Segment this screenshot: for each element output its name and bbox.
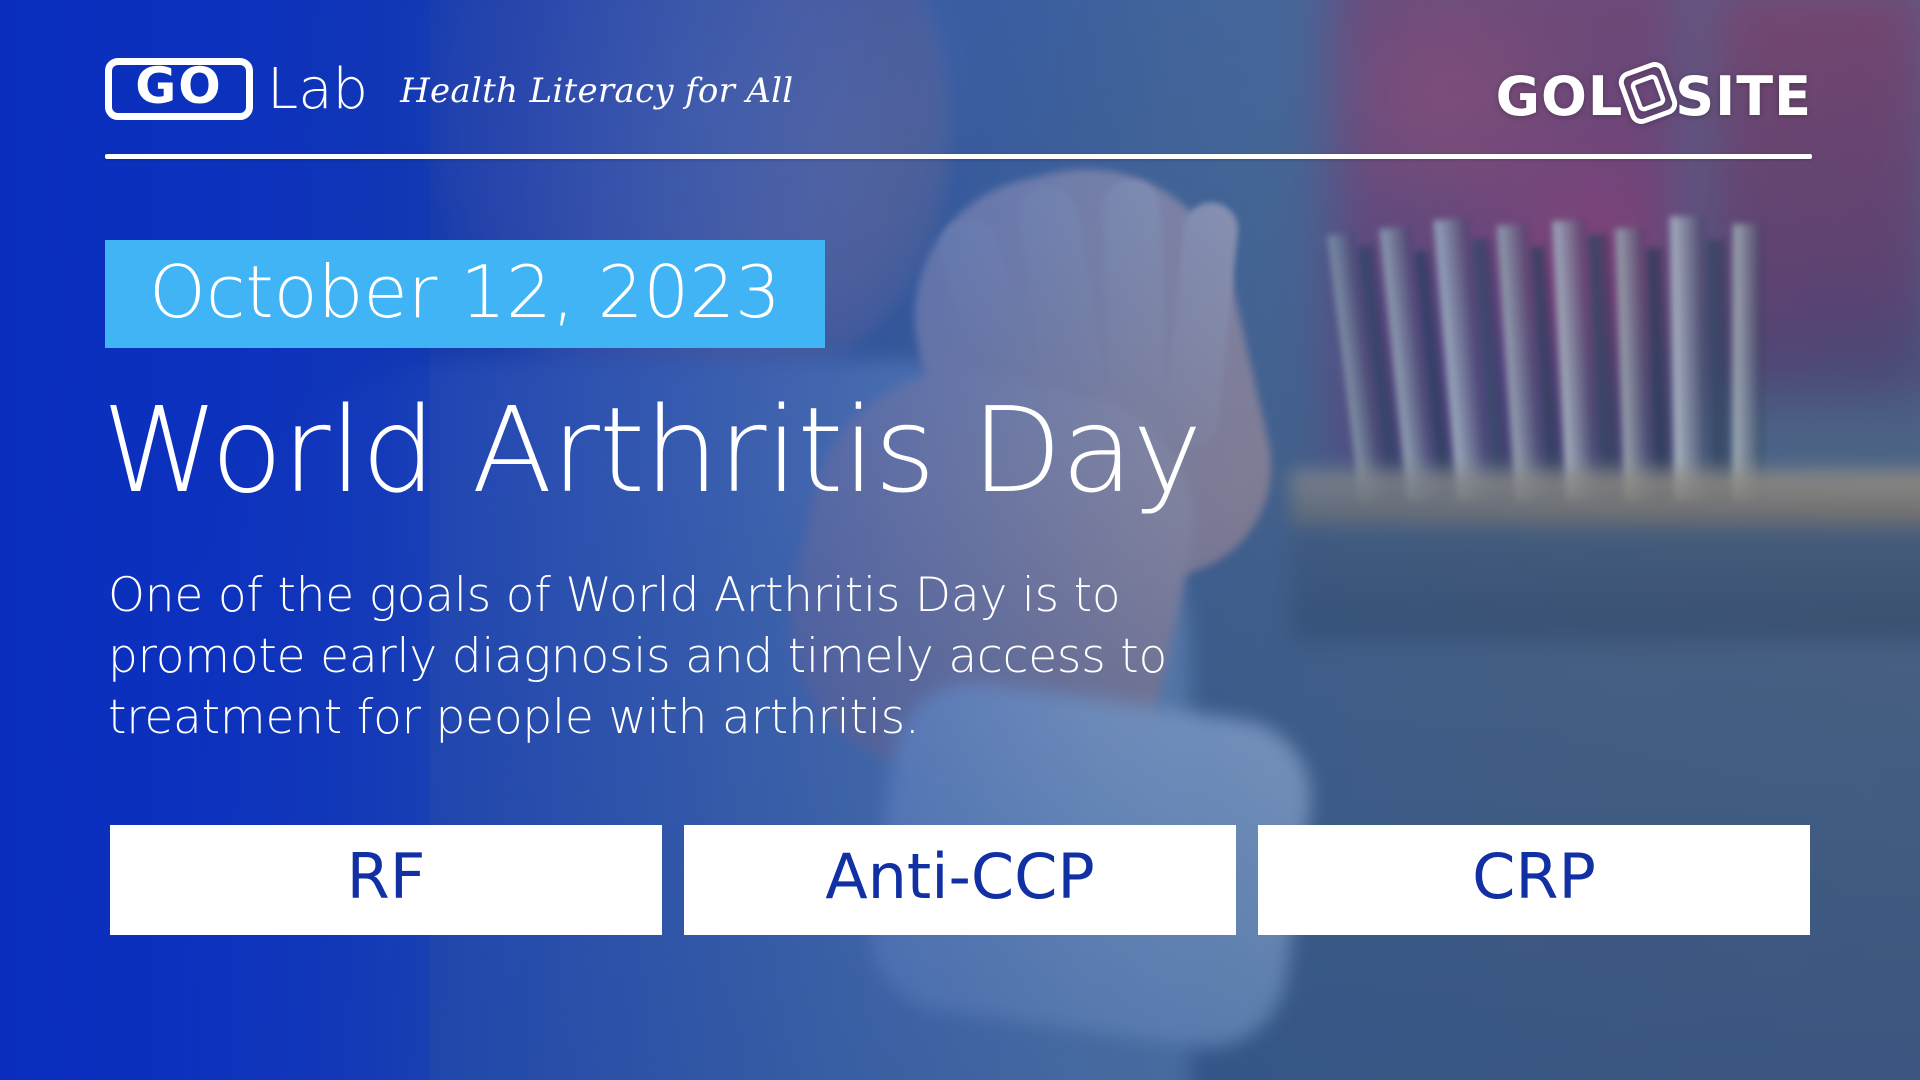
goldsite-logo[interactable]: GOL SITE [1496,66,1812,128]
test-label: Anti-CCP [825,846,1095,908]
header-divider-rule [105,154,1812,159]
banner-content: GO Lab Health Literacy for All GOL SITE [0,0,1920,1080]
test-cassette-icon [1617,62,1679,124]
event-date-text: October 12, 2023 [149,256,781,328]
test-label: RF [347,846,426,908]
golab-go-mark: GO [105,58,253,120]
test-button-anti-ccp[interactable]: Anti-CCP [684,825,1236,935]
goldsite-text-left: GOL [1496,70,1624,124]
test-button-rf[interactable]: RF [110,825,662,935]
test-label: CRP [1472,846,1596,908]
description-text: One of the goals of World Arthritis Day … [108,565,1218,748]
banner-header: GO Lab Health Literacy for All GOL SITE [105,52,1812,160]
event-date-badge: October 12, 2023 [105,240,825,348]
goldsite-text-right: SITE [1675,70,1812,124]
test-list: RF Anti-CCP CRP [110,825,1810,935]
golab-tagline: Health Literacy for All [400,71,793,111]
golab-go-text: GO [135,63,223,111]
golab-logo[interactable]: GO Lab Health Literacy for All [105,58,793,120]
world-arthritis-day-banner: GO Lab Health Literacy for All GOL SITE [0,0,1920,1080]
page-title: World Arthritis Day [102,388,1201,513]
test-button-crp[interactable]: CRP [1258,825,1810,935]
golab-lab-text: Lab [267,62,368,118]
